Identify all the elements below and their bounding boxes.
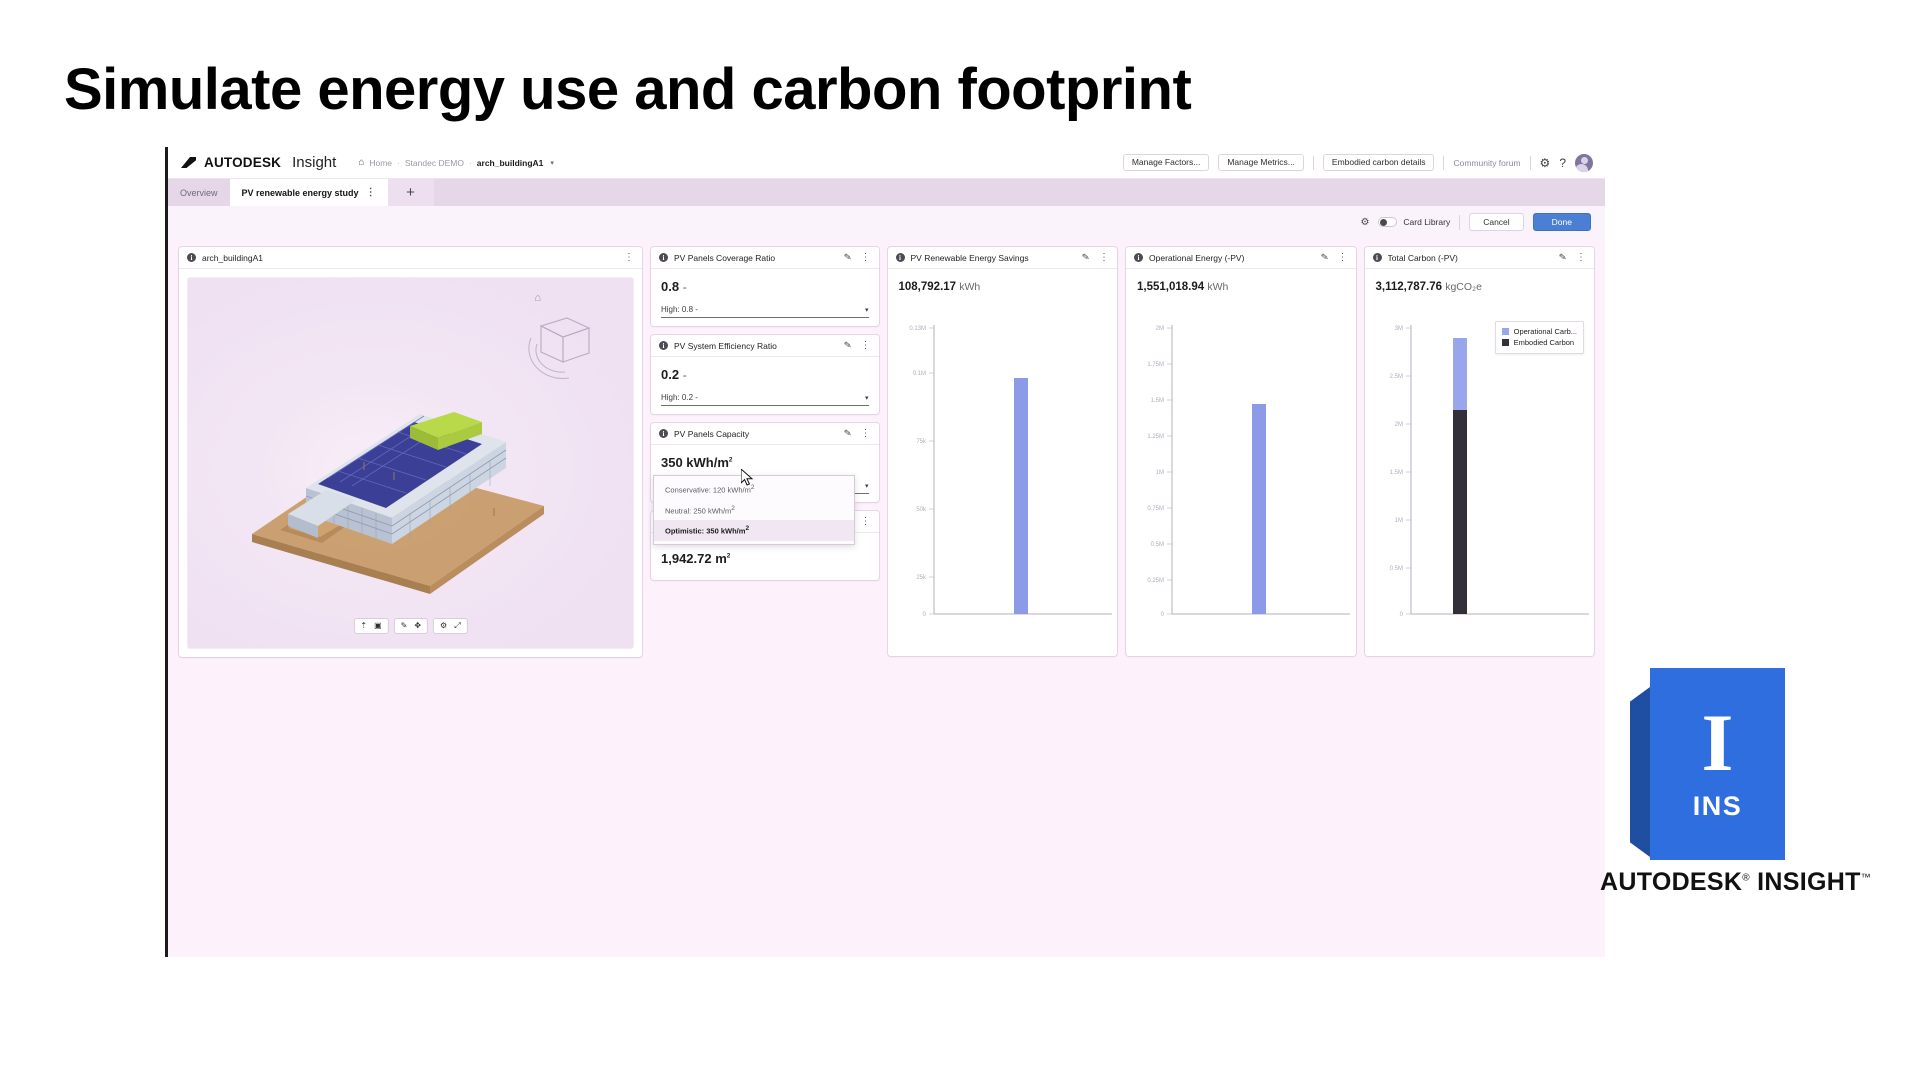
svg-text:0: 0 bbox=[922, 612, 926, 618]
metric-number: 0.8 bbox=[661, 279, 679, 294]
person-scale-icon[interactable]: ⇡ bbox=[360, 622, 367, 630]
svg-text:3M: 3M bbox=[1394, 326, 1402, 332]
logo-wordmark: AUTODESK® INSIGHT™ bbox=[1600, 868, 1871, 897]
home-icon[interactable]: ⌂ bbox=[358, 157, 364, 168]
logo-front-face: I INS bbox=[1650, 668, 1785, 860]
breadcrumb-item-home[interactable]: Home bbox=[369, 158, 392, 168]
chart-legend: Operational Carb... Embodied Carbon bbox=[1495, 321, 1584, 354]
svg-text:1.5M: 1.5M bbox=[1389, 470, 1402, 476]
svg-text:1.25M: 1.25M bbox=[1147, 434, 1164, 440]
card-kebab-icon[interactable]: ⋮ bbox=[1099, 253, 1109, 263]
svg-text:0.5M: 0.5M bbox=[1389, 566, 1402, 572]
card-kebab-icon[interactable]: ⋮ bbox=[861, 341, 871, 351]
metric-number: 0.2 bbox=[661, 367, 679, 382]
autodesk-logo-icon bbox=[180, 156, 197, 169]
chart-headline-value: 108,792.17 kWh bbox=[888, 269, 1118, 293]
info-icon[interactable]: i bbox=[1373, 253, 1382, 262]
breadcrumb[interactable]: ⌂ Home · Standec DEMO · arch_buildingA1 … bbox=[358, 157, 554, 168]
gear-icon[interactable]: ⚙ bbox=[1540, 157, 1551, 169]
dropdown-option-exponent: 2 bbox=[745, 525, 749, 532]
model-card[interactable]: i arch_buildingA1 ⋮ ⌂ bbox=[179, 247, 642, 657]
card-operational-energy[interactable]: i Operational Energy (-PV) ✎ ⋮ 1,551,018… bbox=[1126, 247, 1356, 656]
metric-value: 0.2 - bbox=[661, 367, 869, 382]
manage-metrics-button[interactable]: Manage Metrics... bbox=[1218, 154, 1304, 171]
metric-unit: - bbox=[683, 280, 687, 294]
info-icon[interactable]: i bbox=[187, 253, 196, 262]
card-library-label: Card Library bbox=[1403, 217, 1450, 227]
model-card-kebab-icon[interactable]: ⋮ bbox=[624, 253, 634, 263]
headline-number: 1,551,018.94 bbox=[1137, 281, 1204, 293]
metric-unit-exponent: 2 bbox=[729, 457, 733, 464]
metric-unit: - bbox=[683, 368, 687, 382]
pencil-icon[interactable]: ✎ bbox=[401, 622, 408, 630]
orbit-icon[interactable]: ✥ bbox=[414, 622, 421, 630]
logo-cube: I INS bbox=[1630, 668, 1785, 860]
divider bbox=[1313, 156, 1314, 170]
svg-text:75k: 75k bbox=[916, 439, 927, 445]
app-header: AUTODESK Insight ⌂ Home · Standec DEMO ·… bbox=[168, 147, 1605, 179]
svg-text:0.13M: 0.13M bbox=[909, 326, 926, 332]
application-screenshot: AUTODESK Insight ⌂ Home · Standec DEMO ·… bbox=[165, 147, 1605, 957]
card-body: 0.8 - High: 0.8 - ▾ bbox=[651, 269, 879, 326]
add-tab-button[interactable]: + bbox=[388, 179, 434, 206]
card-title: PV System Efficiency Ratio bbox=[674, 341, 777, 351]
metric-value: 0.8 - bbox=[661, 279, 869, 294]
divider bbox=[1443, 156, 1444, 170]
info-icon[interactable]: i bbox=[1134, 253, 1143, 262]
action-bar: ⚙ Card Library Cancel Done bbox=[168, 206, 1605, 238]
registered-mark: ® bbox=[1742, 873, 1750, 884]
done-button[interactable]: Done bbox=[1533, 213, 1591, 232]
divider bbox=[1459, 215, 1460, 230]
svg-text:1M: 1M bbox=[1156, 470, 1164, 476]
card-kebab-icon[interactable]: ⋮ bbox=[861, 253, 871, 263]
chart-headline-value: 3,112,787.76 kgCO₂e bbox=[1365, 269, 1595, 293]
logo-brand: AUTODESK bbox=[1600, 868, 1742, 896]
tab-overview[interactable]: Overview bbox=[168, 179, 230, 206]
svg-text:0.1M: 0.1M bbox=[912, 371, 925, 377]
breadcrumb-item-model[interactable]: arch_buildingA1 bbox=[477, 158, 544, 168]
card-kebab-icon[interactable]: ⋮ bbox=[861, 429, 871, 439]
info-icon[interactable]: i bbox=[896, 253, 905, 262]
card-kebab-icon[interactable]: ⋮ bbox=[861, 517, 871, 527]
metric-value: 1,942.72 m2 bbox=[661, 551, 869, 566]
card-header: i PV Renewable Energy Savings ✎ ⋮ bbox=[888, 247, 1118, 269]
card-pv-system-efficiency-ratio[interactable]: i PV System Efficiency Ratio ✎ ⋮ 0.2 - bbox=[651, 335, 879, 414]
bar-chart-plot: 2M1.75M 1.5M1.25M 1M0.75M 0.5M0.25M 0 bbox=[1126, 309, 1356, 648]
card-title: PV Panels Coverage Ratio bbox=[674, 253, 775, 263]
breadcrumb-separator: · bbox=[469, 158, 472, 168]
dropdown-option-exponent: 2 bbox=[731, 505, 735, 512]
community-forum-link[interactable]: Community forum bbox=[1453, 158, 1520, 168]
card-pv-renewable-energy-savings[interactable]: i PV Renewable Energy Savings ✎ ⋮ 108,79… bbox=[888, 247, 1118, 656]
legend-swatch bbox=[1502, 339, 1509, 346]
card-header: i Operational Energy (-PV) ✎ ⋮ bbox=[1126, 247, 1356, 269]
card-header: i PV Panels Capacity ✎ ⋮ bbox=[651, 423, 879, 445]
svg-text:0: 0 bbox=[1161, 612, 1165, 618]
headline-unit: kWh bbox=[1207, 281, 1228, 293]
trademark-mark: ™ bbox=[1861, 873, 1871, 884]
svg-text:0: 0 bbox=[1399, 612, 1403, 618]
building-model bbox=[244, 338, 554, 598]
settings-icon[interactable]: ⚙ bbox=[440, 622, 447, 630]
legend-swatch bbox=[1502, 328, 1509, 335]
scenario-select-value: High: 0.8 - bbox=[661, 305, 698, 314]
card-title: PV Panels Capacity bbox=[674, 429, 749, 439]
svg-text:50k: 50k bbox=[916, 507, 927, 513]
settings-gear-icon[interactable]: ⚙ bbox=[1360, 217, 1369, 228]
legend-item-embodied-carbon: Embodied Carbon bbox=[1502, 337, 1577, 348]
svg-text:25k: 25k bbox=[916, 575, 927, 581]
scenario-select[interactable]: High: 0.2 - ▾ bbox=[661, 393, 869, 406]
metric-unit-exponent: 2 bbox=[727, 553, 731, 560]
dropdown-option-exponent: 2 bbox=[751, 484, 755, 491]
edit-pencil-icon[interactable]: ✎ bbox=[1082, 252, 1091, 264]
breadcrumb-separator: · bbox=[397, 158, 400, 168]
viewport-tool-group-3[interactable]: ⚙ ⤢ bbox=[433, 618, 468, 634]
metric-value: 350 kWh/m2 bbox=[661, 455, 869, 470]
metrics-column: i PV Panels Coverage Ratio ✎ ⋮ 0.8 - bbox=[651, 247, 879, 580]
legend-item-operational-carbon: Operational Carb... bbox=[1502, 326, 1577, 337]
logo-product: INSIGHT bbox=[1757, 868, 1861, 896]
card-pv-panels-coverage-ratio[interactable]: i PV Panels Coverage Ratio ✎ ⋮ 0.8 - bbox=[651, 247, 879, 326]
bar-chart-plot: 0.13M0.1M 75k50k 25k0 bbox=[888, 309, 1118, 648]
card-header: i PV System Efficiency Ratio ✎ ⋮ bbox=[651, 335, 879, 357]
headline-unit: kgCO₂e bbox=[1445, 281, 1482, 293]
card-kebab-icon[interactable]: ⋮ bbox=[1576, 253, 1586, 263]
expand-icon[interactable]: ⤢ bbox=[454, 622, 460, 630]
svg-text:0.25M: 0.25M bbox=[1147, 578, 1164, 584]
card-total-carbon[interactable]: i Total Carbon (-PV) ✎ ⋮ 3,112,787.76 kg… bbox=[1365, 247, 1595, 656]
product-name: Insight bbox=[292, 154, 336, 171]
card-header: i PV Panels Coverage Ratio ✎ ⋮ bbox=[651, 247, 879, 269]
viewport-home-icon[interactable]: ⌂ bbox=[534, 292, 541, 304]
chart-svg: 3M2.5M 2M1.5M 1M0.5M 0 bbox=[1365, 309, 1595, 648]
model-viewport[interactable]: ⌂ bbox=[187, 277, 634, 649]
card-header: i Total Carbon (-PV) ✎ ⋮ bbox=[1365, 247, 1595, 269]
card-board: i arch_buildingA1 ⋮ ⌂ bbox=[168, 238, 1605, 957]
edit-pencil-icon[interactable]: ✎ bbox=[843, 428, 852, 440]
scenario-select[interactable]: High: 0.8 - ▾ bbox=[661, 305, 869, 318]
brand-name: AUTODESK bbox=[204, 155, 281, 170]
model-card-header: i arch_buildingA1 ⋮ bbox=[179, 247, 642, 269]
bar-chart-plot: 3M2.5M 2M1.5M 1M0.5M 0 bbox=[1365, 309, 1595, 648]
headline-number: 3,112,787.76 bbox=[1376, 281, 1443, 293]
brand-lockup[interactable]: AUTODESK Insight bbox=[180, 154, 336, 171]
pv-capacity-dropdown[interactable]: Conservative: 120 kWh/m2 Neutral: 250 kW… bbox=[653, 475, 855, 545]
headline-number: 108,792.17 bbox=[899, 281, 957, 293]
model-card-title: arch_buildingA1 bbox=[202, 253, 263, 263]
metric-number: 1,942.72 m bbox=[661, 551, 727, 566]
embodied-carbon-details-button[interactable]: Embodied carbon details bbox=[1323, 154, 1435, 171]
chart-svg: 0.13M0.1M 75k50k 25k0 bbox=[888, 309, 1118, 648]
card-library-toggle[interactable]: Card Library bbox=[1378, 217, 1450, 227]
svg-text:1.75M: 1.75M bbox=[1147, 362, 1164, 368]
breadcrumb-item-project[interactable]: Standec DEMO bbox=[405, 158, 464, 168]
svg-text:2.5M: 2.5M bbox=[1389, 374, 1402, 380]
svg-text:1M: 1M bbox=[1394, 518, 1402, 524]
svg-text:2M: 2M bbox=[1156, 326, 1164, 332]
headline-unit: kWh bbox=[959, 281, 980, 293]
edit-pencil-icon[interactable]: ✎ bbox=[843, 340, 852, 352]
logo-letter: I bbox=[1702, 706, 1734, 780]
info-icon[interactable]: i bbox=[659, 429, 668, 438]
card-title: PV Renewable Energy Savings bbox=[911, 253, 1029, 263]
page-title: Simulate energy use and carbon footprint bbox=[64, 56, 1191, 123]
card-title: Total Carbon (-PV) bbox=[1388, 253, 1458, 263]
legend-label: Operational Carb... bbox=[1514, 326, 1577, 337]
dropdown-option-label: Conservative: 120 kWh/m bbox=[665, 486, 751, 495]
avatar[interactable] bbox=[1575, 154, 1593, 172]
scenario-select-value: High: 0.2 - bbox=[661, 393, 698, 402]
tab-bar: Overview PV renewable energy study ⋮ + bbox=[168, 179, 1605, 206]
metric-number: 350 kWh/m bbox=[661, 455, 729, 470]
divider bbox=[1530, 156, 1531, 170]
svg-text:2M: 2M bbox=[1394, 422, 1402, 428]
svg-text:0.5M: 0.5M bbox=[1151, 542, 1164, 548]
camera-icon[interactable]: ▣ bbox=[374, 622, 382, 630]
svg-text:1.5M: 1.5M bbox=[1151, 398, 1164, 404]
edit-pencil-icon[interactable]: ✎ bbox=[1320, 252, 1329, 264]
chart-svg: 2M1.75M 1.5M1.25M 1M0.75M 0.5M0.25M 0 bbox=[1126, 309, 1356, 648]
card-body: 0.2 - High: 0.2 - ▾ bbox=[651, 357, 879, 414]
cards-row: i arch_buildingA1 ⋮ ⌂ bbox=[179, 247, 1594, 657]
card-kebab-icon[interactable]: ⋮ bbox=[1338, 253, 1348, 263]
dropdown-option-conservative[interactable]: Conservative: 120 kWh/m2 bbox=[654, 479, 854, 500]
chevron-down-icon[interactable]: ▾ bbox=[550, 159, 554, 167]
chevron-down-icon[interactable]: ▾ bbox=[865, 482, 869, 490]
logo-ins-label: INS bbox=[1693, 791, 1743, 822]
tab-pv-renewable-energy-study[interactable]: PV renewable energy study ⋮ bbox=[230, 179, 388, 206]
info-icon[interactable]: i bbox=[659, 341, 668, 350]
chart-headline-value: 1,551,018.94 kWh bbox=[1126, 269, 1356, 293]
tab-kebab-icon[interactable]: ⋮ bbox=[366, 187, 376, 198]
help-icon[interactable]: ? bbox=[1559, 157, 1566, 169]
manage-factors-button[interactable]: Manage Factors... bbox=[1123, 154, 1210, 171]
edit-pencil-icon[interactable]: ✎ bbox=[1559, 252, 1568, 264]
header-actions: Manage Factors... Manage Metrics... Embo… bbox=[1123, 154, 1593, 172]
tab-pv-label: PV renewable energy study bbox=[242, 188, 359, 198]
dropdown-option-label: Neutral: 250 kWh/m bbox=[665, 506, 731, 515]
toggle-switch[interactable] bbox=[1378, 217, 1397, 227]
edit-pencil-icon[interactable]: ✎ bbox=[843, 252, 852, 264]
dropdown-option-optimistic[interactable]: Optimistic: 350 kWh/m2 bbox=[654, 520, 854, 541]
tab-overview-label: Overview bbox=[180, 188, 218, 198]
chevron-down-icon[interactable]: ▾ bbox=[865, 306, 869, 314]
card-title: Operational Energy (-PV) bbox=[1149, 253, 1244, 263]
dropdown-option-neutral[interactable]: Neutral: 250 kWh/m2 bbox=[654, 500, 854, 521]
viewport-tool-group-1[interactable]: ⇡ ▣ bbox=[353, 618, 388, 634]
viewport-tool-group-2[interactable]: ✎ ✥ bbox=[394, 618, 428, 634]
dropdown-option-label: Optimistic: 350 kWh/m bbox=[665, 527, 745, 536]
legend-label: Embodied Carbon bbox=[1514, 337, 1574, 348]
viewport-toolbar[interactable]: ⇡ ▣ ✎ ✥ ⚙ ⤢ bbox=[353, 618, 467, 634]
chevron-down-icon[interactable]: ▾ bbox=[865, 394, 869, 402]
svg-text:0.75M: 0.75M bbox=[1147, 506, 1164, 512]
info-icon[interactable]: i bbox=[659, 253, 668, 262]
cancel-button[interactable]: Cancel bbox=[1469, 213, 1523, 232]
